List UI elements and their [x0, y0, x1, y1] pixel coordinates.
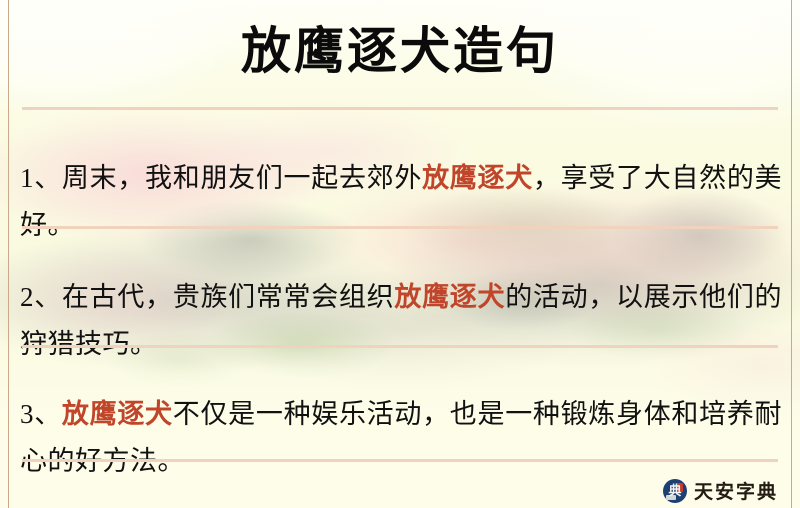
- example-sentence-2: 2、在古代，贵族们常常会组织放鹰逐犬的活动，以展示他们的狩猎技巧。: [20, 274, 782, 368]
- divider-4: [22, 459, 778, 462]
- sentence-2-number: 2、: [20, 282, 62, 312]
- sentence-1-text-before: 周末，我和朋友们一起去郊外: [62, 163, 422, 193]
- divider-3: [22, 345, 778, 348]
- divider-2: [22, 226, 778, 229]
- example-sentence-1: 1、周末，我和朋友们一起去郊外放鹰逐犬，享受了大自然的美好。: [20, 155, 782, 249]
- sentence-3-idiom: 放鹰逐犬: [62, 399, 173, 429]
- sentence-1-number: 1、: [20, 163, 62, 193]
- brand-name: 天安字典: [694, 477, 778, 504]
- sentence-2-text-before: 在古代，贵族们常常会组织: [62, 282, 394, 312]
- divider-1: [22, 107, 778, 110]
- sentence-2-idiom: 放鹰逐犬: [394, 282, 505, 312]
- brand-logo-icon: 典: [663, 479, 687, 503]
- sentence-1-idiom: 放鹰逐犬: [422, 163, 533, 193]
- page-title: 放鹰逐犬造句: [0, 22, 800, 80]
- sentence-3-number: 3、: [20, 399, 62, 429]
- brand-logo-glyph: 典: [663, 479, 687, 503]
- footer-branding: 典 天安字典: [663, 477, 778, 504]
- example-sentence-3: 3、放鹰逐犬不仅是一种娱乐活动，也是一种锻炼身体和培养耐心的好方法。: [20, 391, 782, 485]
- document-page: 放鹰逐犬造句 1、周末，我和朋友们一起去郊外放鹰逐犬，享受了大自然的美好。 2、…: [0, 0, 800, 508]
